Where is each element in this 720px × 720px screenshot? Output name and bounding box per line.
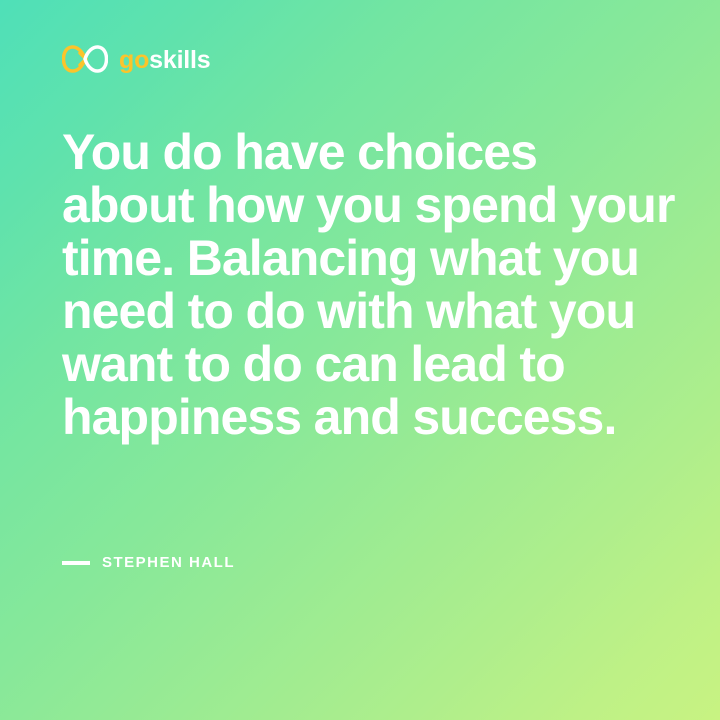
infinity-icon <box>62 43 108 75</box>
brand-wordmark-go: go <box>119 46 149 74</box>
attribution-author: STEPHEN HALL <box>102 554 235 571</box>
brand-logo[interactable]: goskills <box>62 42 211 76</box>
quote-body: You do have choices about how you spend … <box>62 126 676 444</box>
attribution: STEPHEN HALL <box>62 554 235 571</box>
quote-card: goskills You do have choices about how y… <box>0 0 720 720</box>
brand-wordmark-skills: skills <box>149 46 210 74</box>
attribution-dash-rule <box>62 561 90 565</box>
brand-wordmark: goskills <box>119 48 211 73</box>
